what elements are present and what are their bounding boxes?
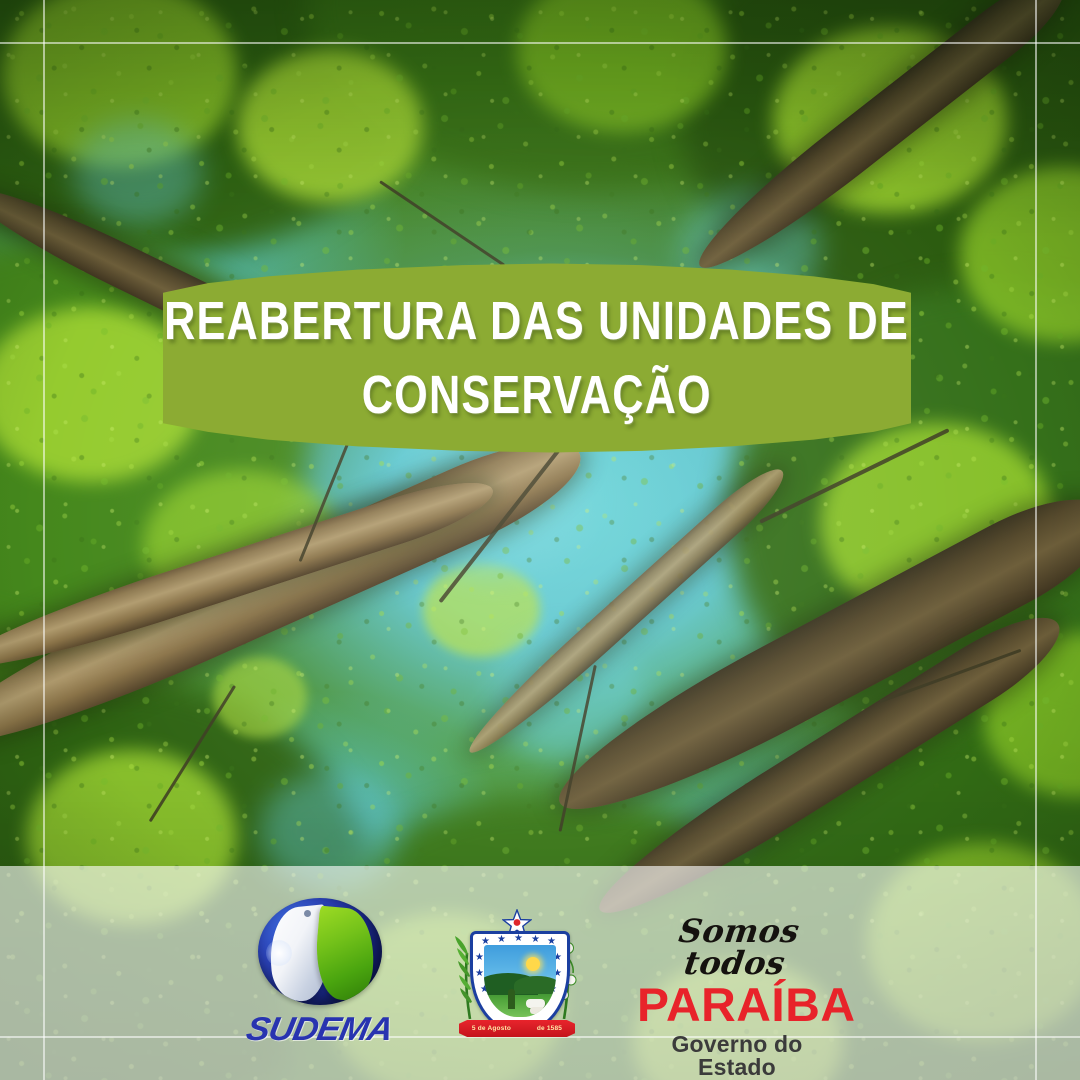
hill-shape-right (514, 976, 556, 994)
ribbon-text-left: 5 de Agosto (472, 1025, 511, 1032)
sudema-wordmark: SUDEMA (244, 1010, 397, 1048)
crest-ribbon: 5 de Agosto de 1585 (459, 1020, 575, 1037)
leaf-icon (312, 906, 378, 1003)
crest-shield: ★ ★ ★ ★ ★ ★ ★ ★ ★ ★ ★ ★ ★ ★ (470, 931, 570, 1033)
sun-icon (526, 957, 540, 971)
title-line-2: CONSERVAÇÃO (362, 367, 712, 423)
paraiba-coat-of-arms: ★ ★ ★ ★ ★ ★ ★ ★ ★ ★ ★ ★ ★ ★ (457, 909, 577, 1037)
cattle-icon-2 (530, 1007, 545, 1014)
footer-logo-row: SUDEMA (0, 866, 1080, 1080)
brand-state-name: PARAÍBA (637, 981, 837, 1028)
title-banner-text: REABERTURA DAS UNIDADES DE CONSERVAÇÃO (163, 262, 911, 454)
ribbon-text-right: de 1585 (537, 1025, 562, 1032)
title-banner: REABERTURA DAS UNIDADES DE CONSERVAÇÃO (163, 262, 911, 454)
title-line-1: REABERTURA DAS UNIDADES DE (165, 293, 910, 349)
poster-canvas: REABERTURA DAS UNIDADES DE CONSERVAÇÃO S… (0, 0, 1080, 1080)
sudema-logo: SUDEMA (245, 898, 395, 1048)
brand-subtitle: Governo do Estado (639, 1033, 835, 1079)
dove-eye-icon (304, 910, 311, 917)
brand-script-line: Somos todos (635, 915, 840, 979)
dove-highlight (266, 940, 292, 966)
sudema-globe-icon (258, 898, 382, 1005)
government-brand: Somos todos PARAÍBA Governo do Estado (639, 915, 835, 1031)
figure-icon (508, 989, 515, 1009)
